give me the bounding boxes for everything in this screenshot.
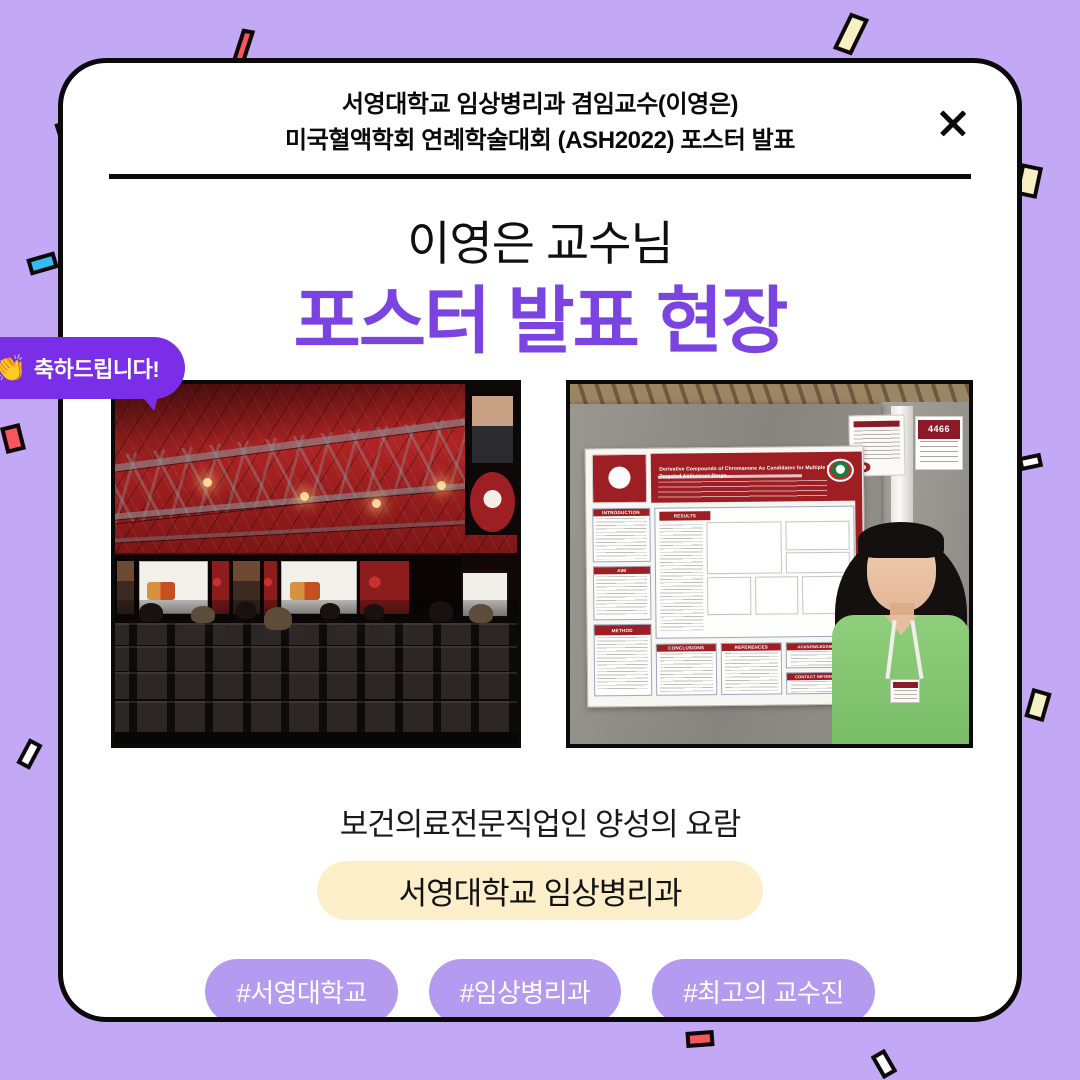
department-pill: 서영대학교 임상병리과 [317,861,764,920]
confetti-cream-top [833,13,869,56]
page-title: 포스터 발표 현장 [63,280,1017,364]
poster-section-aim: AIM [592,566,651,621]
card-footer: 보건의료전문직업인 양성의 요람 서영대학교 임상병리과 #서영대학교#임상병리… [63,799,1017,1022]
seat-row [111,623,521,645]
clapping-hands-icon: 👏 [0,355,26,381]
header-divider [109,174,971,179]
section-body-text [660,653,714,692]
header-subtitle-block: 서영대학교 임상병리과 겸임교수(이영은) 미국혈액학회 연례학술대회 (ASH… [109,87,971,160]
header-line-2: 미국혈액학회 연례학술대회 (ASH2022) 포스터 발표 [153,123,927,159]
section-header: METHOD [594,625,650,636]
results-pathway-diagram [707,522,783,574]
banner-logo [470,472,515,532]
close-icon[interactable] [935,105,971,141]
audience-member [191,606,215,623]
section-header: CONCLUSIONS [657,645,716,652]
confetti-cyan-left [26,251,59,275]
seat-row [111,672,521,699]
confetti-red-bottom [685,1030,714,1048]
poster-header: Derivative Compounds of Chromanone As Ca… [591,452,858,504]
poster-number-tag: 4466 [915,416,963,470]
photo-gallery: 4466 Derivative Compounds of Chromanone … [111,380,973,748]
results-western-blot [755,576,799,615]
poster-section-method: METHOD [593,624,652,697]
card-header: 서영대학교 임상병리과 겸임교수(이영은) 미국혈액학회 연례학술대회 (ASH… [63,63,1017,179]
congratulations-badge: 👏 축하드립니다! [0,337,185,399]
section-header: AIM [593,567,649,574]
congratulations-badge-label: 축하드립니다! [34,352,159,384]
promo-card: 서영대학교 임상병리과 겸임교수(이영은) 미국혈액학회 연례학술대회 (ASH… [58,58,1022,1022]
conference-hall-photo[interactable] [111,380,521,748]
hashtag-list: #서영대학교#임상병리과#최고의 교수진 [63,959,1017,1022]
audience-member [320,603,340,619]
page-subtitle: 이영은 교수님 [63,205,1017,274]
hashtag-chip-2[interactable]: #최고의 교수진 [652,959,874,1022]
section-body-text [597,637,648,692]
audience-member [139,603,163,622]
hall-scene [115,384,517,744]
poster-section-introduction: INTRODUCTION [592,508,651,563]
audience-member [429,601,453,621]
lanyard-strap-right [910,620,923,679]
adjacent-poster-title-bar [854,420,899,427]
poster-section-results: RESULTS [654,506,855,639]
section-header: REFERENCES [722,644,781,651]
banner-speaker-figure [472,396,513,463]
audience-member [264,607,292,630]
side-banner-screen [465,384,517,535]
scientific-poster: Derivative Compounds of Chromanone As Ca… [585,446,867,708]
presenter-green-cardigan [832,615,970,744]
seat-row [111,646,521,670]
ash-society-logo-icon [591,454,647,503]
audience-member [364,604,384,620]
hashtag-chip-0[interactable]: #서영대학교 [205,959,397,1022]
lanyard-strap-left [885,620,896,680]
poster-number-tag-text [920,441,959,466]
confetti-white-left [16,738,42,770]
institution-emblem-icon [827,459,854,483]
confetti-white-bot [871,1049,898,1080]
poster-section-references: REFERENCES [721,643,783,695]
seat-row [111,701,521,733]
section-body-text [596,518,647,559]
tagline: 보건의료전문직업인 양성의 요람 [63,799,1017,844]
poster-title-banner: Derivative Compounds of Chromanone As Ca… [651,452,858,503]
results-bar-chart [707,576,751,615]
poster-presentation-photo[interactable]: 4466 Derivative Compounds of Chromanone … [566,380,973,748]
confetti-red-left [0,423,26,454]
section-body-text [659,524,704,630]
section-body-text [596,576,647,617]
presenter-hair-front [858,522,944,558]
presenter-figure [829,517,973,744]
poster-section-conclusions: CONCLUSIONS [656,644,718,696]
audience-member [236,601,256,618]
section-body-text [725,652,779,691]
poster-number: 4466 [918,420,960,439]
confetti-cream-bot [1024,688,1051,722]
spotlight-4 [437,481,446,490]
booth-scene: 4466 Derivative Compounds of Chromanone … [570,384,969,744]
poster-affiliations [658,480,827,498]
header-line-1: 서영대학교 임상병리과 겸임교수(이영은) [153,87,927,123]
hashtag-chip-1[interactable]: #임상병리과 [429,959,621,1022]
audience-seating [115,600,517,744]
audience-member [469,604,493,623]
section-header: INTRODUCTION [593,509,649,516]
section-header: RESULTS [659,511,710,521]
spotlight-2 [300,492,309,501]
conference-name-badge [890,679,920,702]
